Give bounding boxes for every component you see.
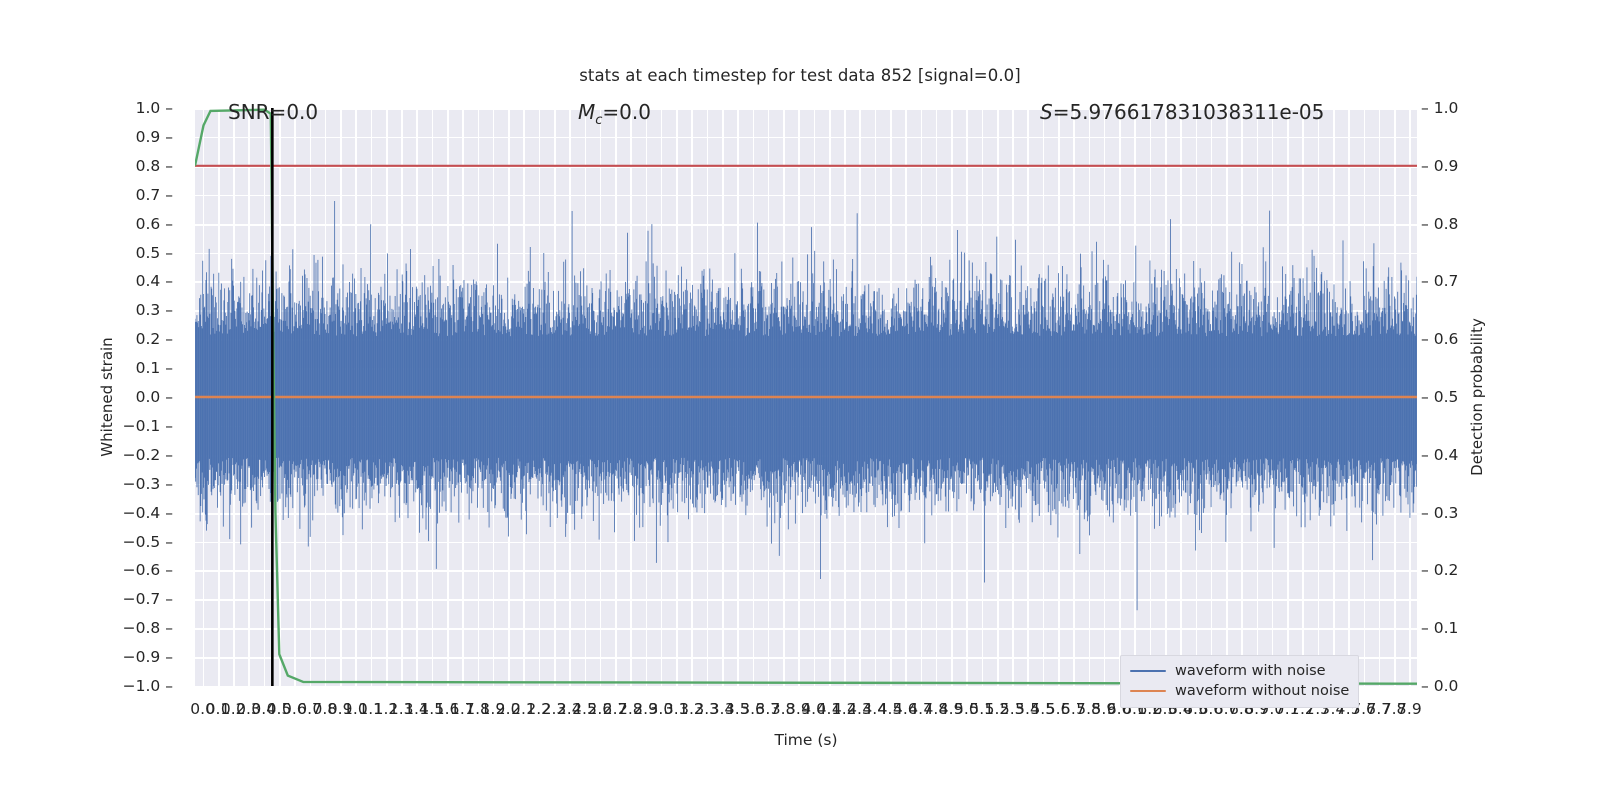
y-tick-left: −1.0– (123, 677, 173, 695)
snr-label: SNR= (228, 100, 286, 124)
tick-text: −0.9 (123, 648, 161, 666)
tick-dash: – (1421, 619, 1429, 637)
tick-dash: – (165, 99, 173, 117)
tick-text: −0.2 (123, 446, 161, 464)
figure-root: stats at each timestep for test data 852… (0, 0, 1600, 800)
y-tick-left: 0.3– (136, 301, 173, 319)
data-layer (195, 108, 1417, 686)
y-tick-left: 1.0– (136, 99, 173, 117)
tick-text: 0.2 (1434, 561, 1459, 579)
tick-text: 0.2 (136, 330, 161, 348)
tick-text: 0.5 (136, 244, 161, 262)
tick-text: 0.6 (136, 215, 161, 233)
tick-text: 0.4 (136, 272, 161, 290)
tick-dash: – (1421, 446, 1429, 464)
tick-text: 0.3 (1434, 504, 1459, 522)
tick-dash: – (165, 533, 173, 551)
tick-dash: – (165, 561, 173, 579)
y-tick-right: –0.8 (1421, 215, 1458, 233)
tick-dash: – (165, 504, 173, 522)
tick-text: −0.3 (123, 475, 161, 493)
tick-dash: – (165, 446, 173, 464)
tick-text: 0.7 (136, 186, 161, 204)
tick-dash: – (165, 475, 173, 493)
tick-text: 0.3 (136, 301, 161, 319)
tick-text: 0.6 (1434, 330, 1459, 348)
tick-text: −0.5 (123, 533, 161, 551)
snr-value: 0.0 (286, 100, 318, 124)
tick-text: 0.5 (1434, 388, 1459, 406)
legend-label-waveform-with-noise: waveform with noise (1175, 663, 1326, 679)
tick-dash: – (1421, 272, 1429, 290)
s-label: S (1040, 100, 1053, 124)
annotation-chirp-mass: Mc=0.0 (578, 100, 651, 128)
noise-waveform (195, 201, 1417, 610)
y-tick-left: −0.5– (123, 533, 173, 551)
tick-text: 0.4 (1434, 446, 1459, 464)
mc-label: M (578, 100, 595, 124)
legend-item-waveform-without-noise: waveform without noise (1130, 681, 1349, 701)
tick-text: 1.0 (1434, 99, 1459, 117)
tick-text: 0.1 (136, 359, 161, 377)
tick-dash: – (165, 272, 173, 290)
y-tick-left: −0.6– (123, 561, 173, 579)
tick-dash: – (1421, 99, 1429, 117)
tick-dash: – (165, 590, 173, 608)
y-tick-left: −0.8– (123, 619, 173, 637)
annotation-statistic: S=5.976617831038311e-05 (1040, 100, 1324, 124)
tick-dash: – (165, 186, 173, 204)
tick-dash: – (1421, 677, 1429, 695)
tick-dash: – (1421, 504, 1429, 522)
y-tick-left: 0.5– (136, 244, 173, 262)
tick-dash: – (165, 648, 173, 666)
y-tick-left: 0.7– (136, 186, 173, 204)
x-tick: 7.9 (1397, 700, 1422, 718)
tick-dash: – (1421, 215, 1429, 233)
mc-equals: =0.0 (602, 100, 651, 124)
legend: waveform with noise waveform without noi… (1120, 655, 1359, 708)
y-tick-left: −0.2– (123, 446, 173, 464)
legend-swatch-blue (1130, 670, 1166, 672)
y-tick-right: –0.3 (1421, 504, 1458, 522)
tick-dash: – (165, 330, 173, 348)
y-tick-left: 0.1– (136, 359, 173, 377)
y-tick-right: –0.4 (1421, 446, 1458, 464)
y-tick-left: −0.9– (123, 648, 173, 666)
y-axis-left-label: Whitened strain (98, 337, 116, 456)
y-tick-right: –0.2 (1421, 561, 1458, 579)
y-tick-left: 0.8– (136, 157, 173, 175)
tick-text: 0.0 (1434, 677, 1459, 695)
tick-dash: – (165, 417, 173, 435)
tick-dash: – (165, 244, 173, 262)
y-tick-right: –0.6 (1421, 330, 1458, 348)
annotation-snr: SNR=0.0 (228, 100, 318, 124)
tick-dash: – (165, 359, 173, 377)
tick-text: 0.0 (136, 388, 161, 406)
legend-label-waveform-without-noise: waveform without noise (1175, 683, 1349, 699)
y-tick-left: −0.7– (123, 590, 173, 608)
tick-text: −0.1 (123, 417, 161, 435)
y-tick-left: −0.1– (123, 417, 173, 435)
y-tick-left: 0.0– (136, 388, 173, 406)
y-tick-left: 0.2– (136, 330, 173, 348)
y-tick-left: 0.6– (136, 215, 173, 233)
tick-dash: – (165, 388, 173, 406)
y-tick-left: −0.3– (123, 475, 173, 493)
tick-dash: – (165, 128, 173, 146)
tick-dash: – (1421, 561, 1429, 579)
tick-dash: – (165, 677, 173, 695)
tick-text: 0.8 (136, 157, 161, 175)
tick-text: −1.0 (123, 677, 161, 695)
tick-text: 0.7 (1434, 272, 1459, 290)
tick-text: −0.6 (123, 561, 161, 579)
y-tick-left: −0.4– (123, 504, 173, 522)
tick-dash: – (1421, 330, 1429, 348)
y-tick-right: –0.0 (1421, 677, 1458, 695)
tick-dash: – (165, 215, 173, 233)
y-tick-right: –0.7 (1421, 272, 1458, 290)
tick-text: 1.0 (136, 99, 161, 117)
tick-text: −0.8 (123, 619, 161, 637)
tick-dash: – (1421, 157, 1429, 175)
x-axis-label: Time (s) (774, 731, 837, 749)
plot-area (195, 108, 1417, 686)
tick-text: −0.7 (123, 590, 161, 608)
y-axis-right-label: Detection probability (1468, 318, 1486, 476)
s-value: =5.976617831038311e-05 (1053, 100, 1325, 124)
tick-dash: – (165, 619, 173, 637)
y-tick-right: –0.1 (1421, 619, 1458, 637)
page-title: stats at each timestep for test data 852… (0, 66, 1600, 85)
y-tick-left: 0.9– (136, 128, 173, 146)
tick-text: 0.1 (1434, 619, 1459, 637)
tick-dash: – (1421, 388, 1429, 406)
y-tick-right: –0.9 (1421, 157, 1458, 175)
tick-dash: – (165, 301, 173, 319)
tick-text: −0.4 (123, 504, 161, 522)
legend-swatch-orange (1130, 690, 1166, 692)
legend-item-waveform-with-noise: waveform with noise (1130, 661, 1349, 681)
tick-dash: – (165, 157, 173, 175)
tick-text: 0.9 (136, 128, 161, 146)
tick-text: 0.8 (1434, 215, 1459, 233)
y-tick-right: –0.5 (1421, 388, 1458, 406)
y-tick-right: –1.0 (1421, 99, 1458, 117)
tick-text: 0.9 (1434, 157, 1459, 175)
y-tick-left: 0.4– (136, 272, 173, 290)
